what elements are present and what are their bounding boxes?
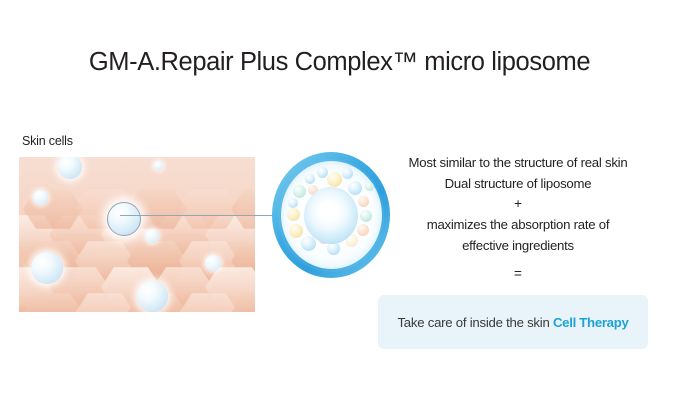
liposome-diagram [272, 152, 390, 278]
liposome-molecule [287, 208, 300, 221]
infographic-slide: GM-A.Repair Plus Complex™ micro liposome… [0, 0, 679, 404]
skin-droplet [154, 161, 163, 170]
skin-droplet [58, 157, 82, 179]
skin-cells-label: Skin cells [22, 134, 73, 148]
skin-droplet [145, 229, 159, 243]
description-line-2: Dual structure of liposome [390, 173, 646, 194]
liposome-molecule [289, 224, 303, 238]
callout-prefix: Take care of inside the skin [397, 315, 552, 330]
page-title: GM-A.Repair Plus Complex™ micro liposome [0, 48, 679, 77]
liposome-molecule [327, 172, 342, 187]
skin-droplet [31, 252, 63, 284]
liposome-molecule [293, 185, 306, 198]
liposome-molecule [348, 181, 362, 195]
description-line-3: maximizes the absorption rate of [390, 214, 646, 235]
description-line-4: effective ingredients [390, 235, 646, 256]
liposome-molecule [360, 210, 372, 222]
skin-droplet [33, 190, 48, 205]
callout-accent: Cell Therapy [553, 315, 629, 330]
liposome-core [304, 187, 358, 244]
skin-cells-illustration [19, 157, 255, 312]
liposome-molecule [358, 196, 369, 207]
plus-symbol: + [390, 194, 646, 214]
skin-droplet [205, 255, 221, 271]
callout-text: Take care of inside the skin Cell Therap… [397, 315, 628, 330]
equals-symbol: = [390, 266, 646, 281]
liposome-molecule [288, 198, 298, 208]
liposome-molecule [305, 174, 315, 184]
connector-line [120, 215, 272, 216]
liposome-molecule [342, 168, 353, 179]
description-block: Most similar to the structure of real sk… [390, 152, 646, 256]
cell-therapy-callout: Take care of inside the skin Cell Therap… [378, 295, 648, 349]
skin-droplet [137, 281, 168, 312]
liposome-molecule [365, 182, 374, 191]
highlighted-skin-cell-droplet [107, 202, 141, 236]
description-line-1: Most similar to the structure of real sk… [390, 152, 646, 173]
liposome-molecule [357, 224, 369, 236]
